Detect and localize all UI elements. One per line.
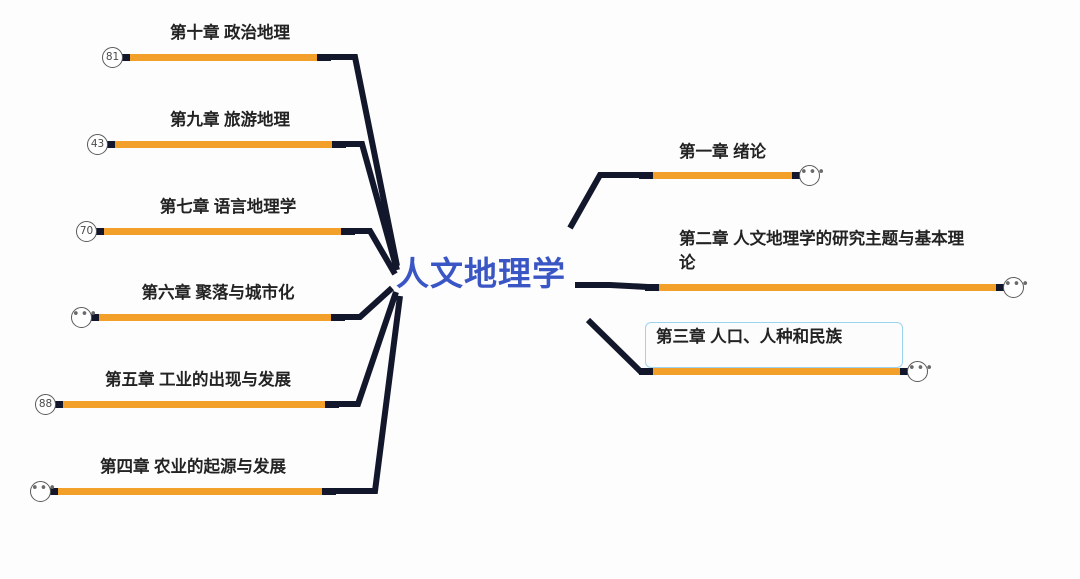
node-box[interactable]: 第一章 绪论	[668, 137, 868, 166]
node-bar[interactable]	[107, 141, 345, 148]
node-bar[interactable]	[122, 54, 330, 61]
node-label: 第十章 政治地理	[141, 22, 319, 46]
node-label: 第九章 旅游地理	[126, 109, 334, 133]
node-label: 第四章 农业的起源与发展	[64, 456, 322, 480]
count-badge[interactable]: 43	[87, 134, 108, 155]
node-box[interactable]: 第十章 政治地理	[130, 18, 330, 47]
node-bar-cap	[325, 401, 339, 408]
node-left-3[interactable]: 第六章 聚落与城市化	[93, 278, 343, 307]
edge-root-to-zhang-7	[354, 231, 395, 274]
node-bar-cap	[645, 284, 659, 291]
node-box[interactable]: 第五章 工业的出现与发展	[58, 365, 338, 394]
node-right-0[interactable]: 第一章 绪论	[668, 137, 868, 166]
root-node[interactable]: 人文地理学	[396, 257, 566, 290]
node-bar-cap	[332, 141, 346, 148]
node-bar-cap	[639, 368, 653, 375]
node-label: 第一章 绪论	[679, 141, 857, 165]
node-bar-cap	[639, 172, 653, 179]
node-bar[interactable]	[96, 228, 354, 235]
edge-root-to-zhang-6	[344, 288, 392, 317]
node-bar[interactable]	[640, 172, 800, 179]
edge-root-to-chapter-3	[588, 320, 648, 371]
node-label: 第七章 语言地理学	[111, 196, 345, 220]
edge-root-to-chapter-1	[570, 175, 640, 228]
node-box[interactable]: 第二章 人文地理学的研究主题与基本理论	[668, 224, 986, 277]
node-bar[interactable]	[640, 368, 908, 375]
node-label: 第二章 人文地理学的研究主题与基本理论	[679, 228, 975, 276]
node-label: 第五章 工业的出现与发展	[69, 369, 327, 393]
node-bar[interactable]	[50, 488, 335, 495]
node-right-1[interactable]: 第二章 人文地理学的研究主题与基本理论	[668, 224, 986, 277]
node-left-2[interactable]: 第七章 语言地理学	[100, 192, 356, 221]
collapse-badge[interactable]: •••	[30, 481, 51, 502]
node-box[interactable]: 第九章 旅游地理	[115, 105, 345, 134]
node-bar-cap	[341, 228, 355, 235]
node-bar[interactable]	[91, 314, 344, 321]
count-badge[interactable]: 81	[102, 47, 123, 68]
edge-root-to-chapter-2	[575, 285, 648, 287]
edge-root-to-zhang-4	[335, 296, 400, 491]
collapse-badge[interactable]: •••	[71, 307, 92, 328]
node-label: 第六章 聚落与城市化	[104, 282, 332, 306]
node-box[interactable]: 第六章 聚落与城市化	[93, 278, 343, 307]
node-bar[interactable]	[646, 284, 1004, 291]
node-bar-cap	[322, 488, 336, 495]
count-badge[interactable]: 88	[35, 394, 56, 415]
node-right-2[interactable]: 第三章 人口、人种和民族	[645, 322, 903, 368]
collapse-badge[interactable]: •••	[1003, 277, 1024, 298]
node-bar[interactable]	[55, 401, 338, 408]
node-box[interactable]: 第三章 人口、人种和民族	[645, 322, 903, 368]
node-box[interactable]: 第七章 语言地理学	[100, 192, 356, 221]
node-left-0[interactable]: 第十章 政治地理	[130, 18, 330, 47]
mindmap-canvas[interactable]: 人文地理学 第十章 政治地理81第九章 旅游地理43第七章 语言地理学70第六章…	[0, 0, 1080, 579]
node-box[interactable]: 第四章 农业的起源与发展	[53, 452, 333, 481]
node-bar-cap	[317, 54, 331, 61]
node-left-1[interactable]: 第九章 旅游地理	[115, 105, 345, 134]
edge-root-to-zhang-5	[338, 292, 396, 404]
node-left-4[interactable]: 第五章 工业的出现与发展	[58, 365, 338, 394]
node-bar-cap	[331, 314, 345, 321]
collapse-badge[interactable]: •••	[907, 361, 928, 382]
node-label: 第三章 人口、人种和民族	[656, 326, 892, 350]
collapse-badge[interactable]: •••	[799, 165, 820, 186]
count-badge[interactable]: 70	[76, 221, 97, 242]
node-left-5[interactable]: 第四章 农业的起源与发展	[53, 452, 333, 481]
